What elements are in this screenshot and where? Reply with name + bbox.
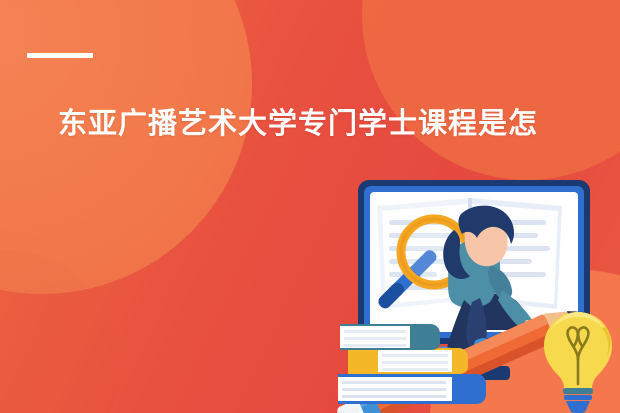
accent-rule <box>27 53 93 58</box>
lightbulb-icon <box>544 312 612 413</box>
promo-banner: 东亚广播艺术大学专门学士课程是怎 <box>0 0 620 413</box>
banner-title: 东亚广播艺术大学专门学士课程是怎 <box>58 104 598 144</box>
student-on-pencil-illustration <box>330 178 620 413</box>
